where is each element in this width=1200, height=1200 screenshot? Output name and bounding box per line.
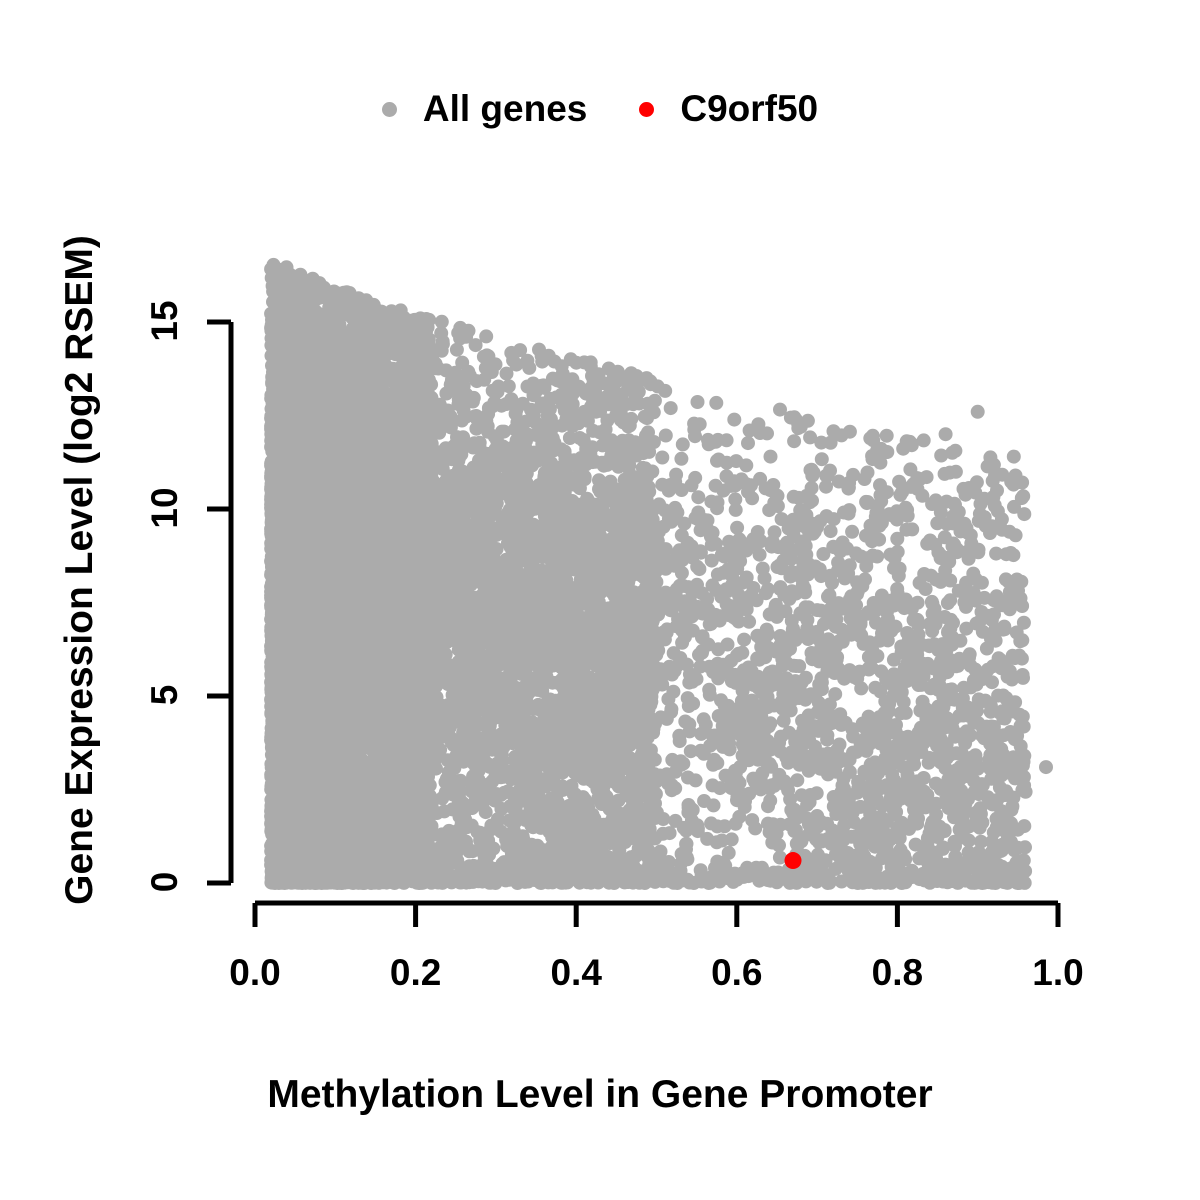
x-tick-label-1: 0.2 — [356, 952, 476, 994]
x-tick-label-0: 0.0 — [195, 952, 315, 994]
y-tick-label-0: 0 — [144, 842, 186, 922]
highlighted-gene-point — [785, 852, 802, 869]
x-tick-label-4: 0.8 — [837, 952, 957, 994]
y-tick-label-2: 10 — [144, 468, 186, 548]
scatter-plot-figure: All genes C9orf50 0.00.20.40.60.81.0 051… — [0, 0, 1200, 1200]
y-tick-label-1: 5 — [144, 655, 186, 735]
x-tick-label-5: 1.0 — [998, 952, 1118, 994]
data-points-layer — [264, 258, 1053, 890]
all-genes-points — [264, 258, 1053, 890]
plot-canvas — [0, 0, 1200, 1200]
x-axis-title: Methylation Level in Gene Promoter — [0, 1073, 1200, 1117]
y-axis-title: Gene Expression Level (log2 RSEM) — [58, 170, 102, 970]
y-tick-label-3: 15 — [144, 281, 186, 361]
x-tick-label-3: 0.6 — [677, 952, 797, 994]
x-tick-label-2: 0.4 — [516, 952, 636, 994]
